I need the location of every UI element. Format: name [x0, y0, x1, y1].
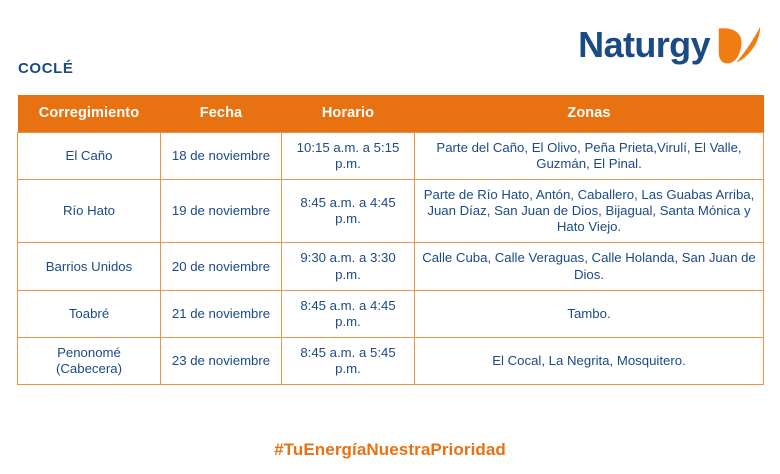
column-header-corregimiento: Corregimiento [18, 95, 161, 133]
footer-hashtag: #TuEnergíaNuestraPrioridad [0, 440, 780, 460]
table-body: El Caño 18 de noviembre 10:15 a.m. a 5:1… [18, 133, 764, 385]
column-header-zonas: Zonas [415, 95, 764, 133]
naturgy-wordmark: Naturgy [578, 27, 710, 63]
cell-horario: 9:30 a.m. a 3:30 p.m. [282, 243, 415, 290]
cell-corregimiento: Río Hato [18, 180, 161, 243]
naturgy-logo: Naturgy [578, 22, 762, 68]
cell-horario: 8:45 a.m. a 4:45 p.m. [282, 180, 415, 243]
cell-corregimiento: Toabré [18, 290, 161, 337]
table-row: Penonomé (Cabecera) 23 de noviembre 8:45… [18, 337, 764, 384]
naturgy-flame-icon [716, 22, 762, 68]
cell-fecha: 18 de noviembre [161, 133, 282, 180]
cell-horario: 8:45 a.m. a 4:45 p.m. [282, 290, 415, 337]
table-header: Corregimiento Fecha Horario Zonas [18, 95, 764, 133]
cell-zonas: Parte del Caño, El Olivo, Peña Prieta,Vi… [415, 133, 764, 180]
cell-fecha: 23 de noviembre [161, 337, 282, 384]
cell-horario: 8:45 a.m. a 5:45 p.m. [282, 337, 415, 384]
cell-fecha: 19 de noviembre [161, 180, 282, 243]
column-header-fecha: Fecha [161, 95, 282, 133]
cell-fecha: 20 de noviembre [161, 243, 282, 290]
cell-corregimiento: Barrios Unidos [18, 243, 161, 290]
cell-zonas: Tambo. [415, 290, 764, 337]
table-row: Río Hato 19 de noviembre 8:45 a.m. a 4:4… [18, 180, 764, 243]
cell-zonas: Parte de Río Hato, Antón, Caballero, Las… [415, 180, 764, 243]
cell-fecha: 21 de noviembre [161, 290, 282, 337]
column-header-horario: Horario [282, 95, 415, 133]
cell-zonas: El Cocal, La Negrita, Mosquitero. [415, 337, 764, 384]
cell-zonas: Calle Cuba, Calle Veraguas, Calle Holand… [415, 243, 764, 290]
table-row: Barrios Unidos 20 de noviembre 9:30 a.m.… [18, 243, 764, 290]
outage-table-container: Corregimiento Fecha Horario Zonas El Cañ… [17, 95, 763, 385]
outage-table: Corregimiento Fecha Horario Zonas El Cañ… [17, 95, 764, 385]
table-row: El Caño 18 de noviembre 10:15 a.m. a 5:1… [18, 133, 764, 180]
cell-corregimiento: El Caño [18, 133, 161, 180]
table-row: Toabré 21 de noviembre 8:45 a.m. a 4:45 … [18, 290, 764, 337]
table-header-row: Corregimiento Fecha Horario Zonas [18, 95, 764, 133]
outage-schedule-page: Naturgy COCLÉ Corregimiento Fecha Horari… [0, 0, 780, 474]
cell-horario: 10:15 a.m. a 5:15 p.m. [282, 133, 415, 180]
cell-corregimiento: Penonomé (Cabecera) [18, 337, 161, 384]
province-title: COCLÉ [18, 60, 74, 77]
